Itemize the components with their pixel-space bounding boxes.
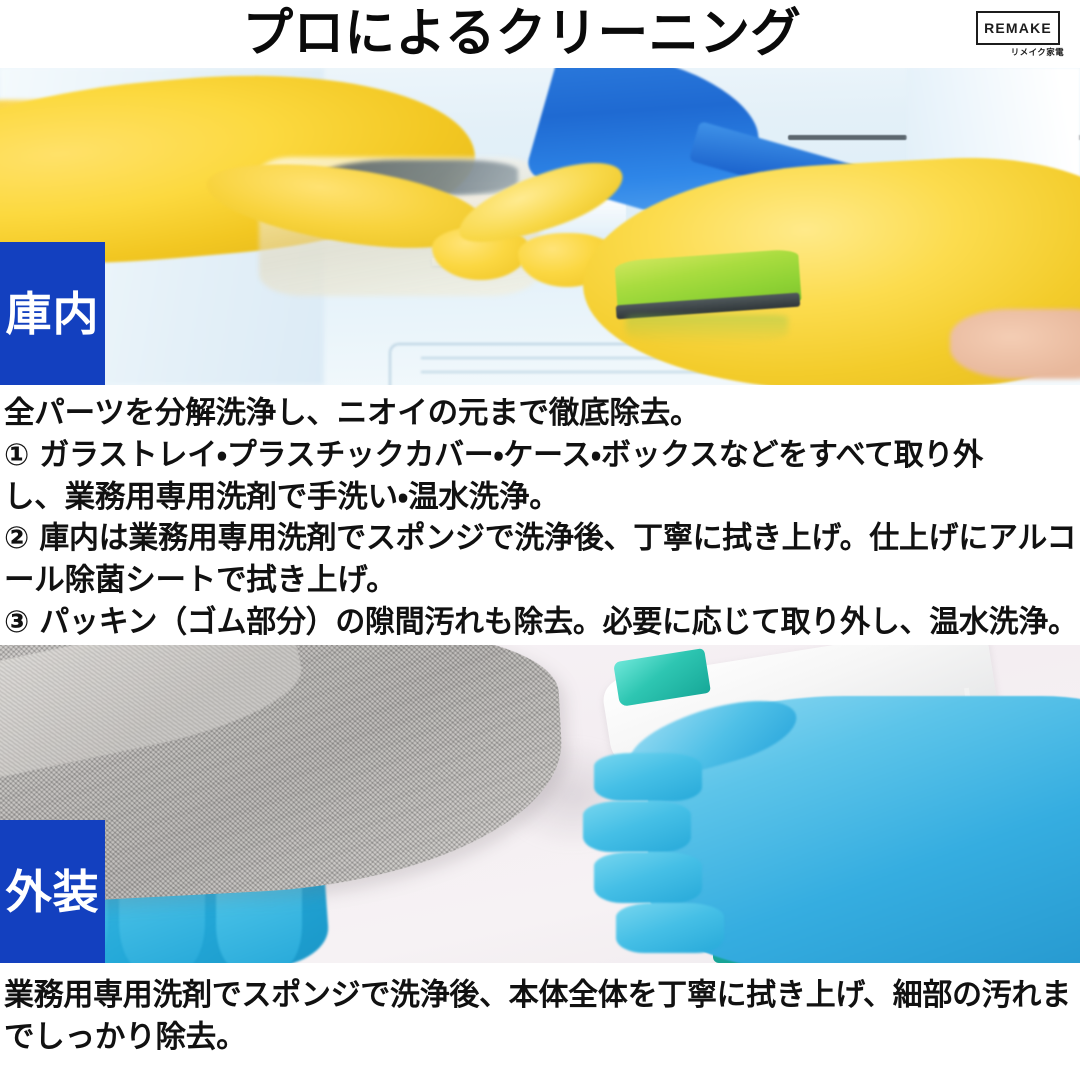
section-badge-interior-label: 庫内 (6, 291, 100, 337)
promo-page: プロによるクリーニング REMAKE リメイク家電 (0, 0, 1080, 1080)
section-badge-interior: 庫内 (0, 242, 105, 385)
logo-subtitle: リメイク家電 (1008, 46, 1066, 58)
wrist-skin (950, 309, 1080, 379)
description-line: でしっかり除去。 (4, 1017, 1074, 1059)
description-line: ール除菌シートで拭き上げ。 (4, 560, 1074, 602)
fridge-shelf-edge-1 (788, 135, 907, 140)
description-interior: 全パーツを分解洗浄し、ニオイの元まで徹底除去。 ① ガラストレイ・プラスチックカ… (0, 385, 1080, 645)
section-badge-exterior-label: 外装 (6, 869, 100, 915)
page-header: プロによるクリーニング REMAKE リメイク家電 (0, 0, 1080, 68)
description-line: ② 庫内は業務用専用洗剤でスポンジで洗浄後、丁寧に拭き上げ。仕上げにアルコ (4, 518, 1053, 560)
description-line: ① ガラストレイ・プラスチックカバー・ケース・ボックスなどをすべて取り外 (4, 435, 1053, 477)
description-line: 全パーツを分解洗浄し、ニオイの元まで徹底除去。 (4, 393, 1074, 435)
description-line: し、業務用専用洗剤で手洗い・温水洗浄。 (4, 477, 1074, 519)
page-title: プロによるクリーニング (243, 8, 802, 60)
remake-logo: REMAKE リメイク家電 (972, 6, 1068, 58)
blue-glove-right-finger-3 (594, 852, 702, 903)
description-line: 業務用専用洗剤でスポンジで洗浄後、本体全体を丁寧に拭き上げ、細部の汚れま (4, 975, 1053, 1017)
photo-exterior-wipe: 外装 (0, 645, 1080, 963)
blue-glove-right-finger-2 (583, 801, 691, 852)
blue-glove-right-finger-1 (594, 753, 702, 801)
section-badge-exterior: 外装 (0, 820, 105, 963)
blue-glove-right-finger-4 (616, 903, 724, 954)
exterior-photo-canvas (0, 645, 1080, 963)
sponge-reflection (626, 315, 788, 344)
logo-name: REMAKE (984, 21, 1052, 35)
logo-frame: REMAKE (976, 11, 1060, 45)
description-exterior: 業務用専用洗剤でスポンジで洗浄後、本体全体を丁寧に拭き上げ、細部の汚れま でしっ… (0, 963, 1080, 1080)
fridge-photo-canvas (0, 68, 1080, 385)
photo-fridge-interior: 庫内 (0, 68, 1080, 385)
description-line: ③ パッキン（ゴム部分）の隙間汚れも除去。必要に応じて取り外し、温水洗浄。 (4, 602, 1053, 644)
